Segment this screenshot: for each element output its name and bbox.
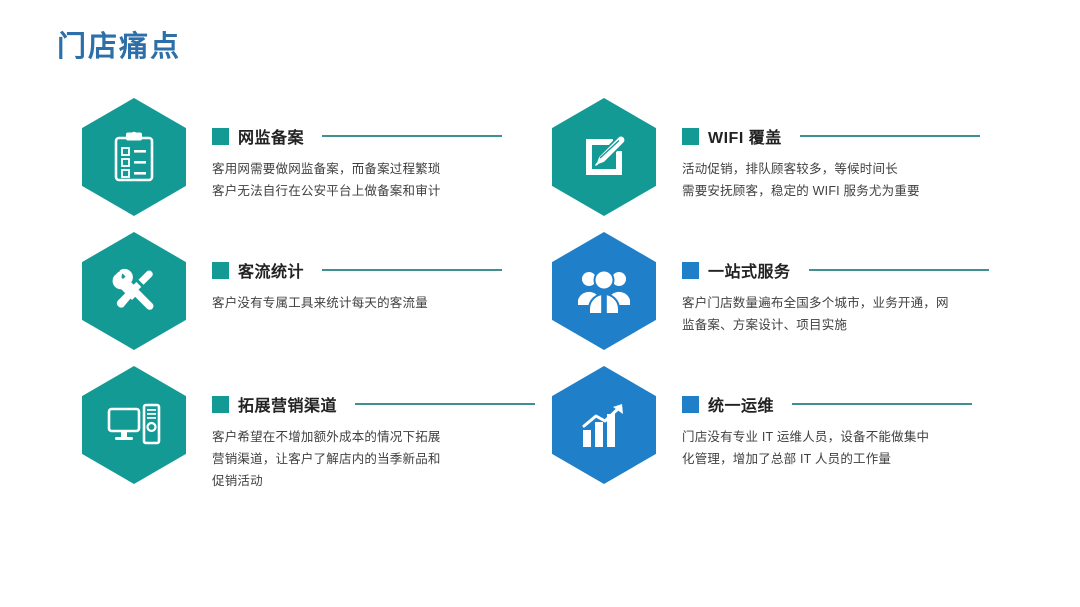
hexagon-shape (82, 232, 186, 350)
card-title: 客流统计 (238, 258, 304, 282)
card-text-block: 网监备案 客用网需要做网监备案，而备案过程繁琐 客户无法自行在公安平台上做备案和… (186, 96, 552, 202)
card-description-line: 客户门店数量遍布全国多个城市，业务开通，网 (682, 292, 1012, 314)
pain-point-card-grid: 网监备案 客用网需要做网监备案，而备案过程繁琐 客户无法自行在公安平台上做备案和… (0, 96, 1080, 498)
card-description-line: 活动促销，排队顾客较多，等候时间长 (682, 158, 1012, 180)
card-header: WIFI 覆盖 (682, 126, 1022, 146)
card-title-rule (322, 135, 502, 137)
card-color-swatch (212, 128, 229, 145)
card-color-swatch (682, 128, 699, 145)
slide-root: 门店痛点 (0, 0, 1080, 607)
hexagon-badge (82, 232, 186, 350)
card-title-rule (355, 403, 535, 405)
hexagon-shape (82, 98, 186, 216)
card-description-line: 营销渠道，让客户了解店内的当季新品和 (212, 448, 542, 470)
card-description: 门店没有专业 IT 运维人员，设备不能做集中 化管理，增加了总部 IT 人员的工… (682, 426, 1012, 470)
card-description-line: 客户无法自行在公安平台上做备案和审计 (212, 180, 542, 202)
pain-point-card[interactable]: 统一运维 门店没有专业 IT 运维人员，设备不能做集中 化管理，增加了总部 IT… (552, 364, 1022, 498)
card-header: 一站式服务 (682, 260, 1022, 280)
card-color-swatch (682, 262, 699, 279)
hexagon-badge (552, 232, 656, 350)
card-title: 一站式服务 (708, 258, 791, 282)
card-text-block: 统一运维 门店没有专业 IT 运维人员，设备不能做集中 化管理，增加了总部 IT… (656, 364, 1022, 470)
wrench-screwdriver-icon (108, 265, 160, 317)
card-text-block: WIFI 覆盖 活动促销，排队顾客较多，等候时间长 需要安抚顾客，稳定的 WIF… (656, 96, 1022, 202)
card-description-line: 客户没有专属工具来统计每天的客流量 (212, 292, 542, 314)
card-color-swatch (682, 396, 699, 413)
card-title: 拓展营销渠道 (238, 392, 337, 416)
desktop-computer-icon (106, 401, 162, 449)
card-title: WIFI 覆盖 (708, 124, 782, 148)
card-text-block: 拓展营销渠道 客户希望在不增加额外成本的情况下拓展 营销渠道，让客户了解店内的当… (186, 364, 552, 492)
pain-point-card[interactable]: WIFI 覆盖 活动促销，排队顾客较多，等候时间长 需要安抚顾客，稳定的 WIF… (552, 96, 1022, 230)
pain-point-card[interactable]: 客流统计 客户没有专属工具来统计每天的客流量 (82, 230, 552, 364)
clipboard-checklist-icon (109, 130, 159, 184)
hexagon-badge (82, 366, 186, 484)
hexagon-shape (82, 366, 186, 484)
card-title-rule (809, 269, 989, 271)
card-description-line: 化管理，增加了总部 IT 人员的工作量 (682, 448, 1012, 470)
card-description: 客户门店数量遍布全国多个城市，业务开通，网 监备案、方案设计、项目实施 (682, 292, 1012, 336)
card-text-block: 一站式服务 客户门店数量遍布全国多个城市，业务开通，网 监备案、方案设计、项目实… (656, 230, 1022, 336)
card-description: 客用网需要做网监备案，而备案过程繁琐 客户无法自行在公安平台上做备案和审计 (212, 158, 542, 202)
card-title-rule (800, 135, 980, 137)
bar-chart-growth-icon (579, 400, 629, 450)
hexagon-badge (82, 98, 186, 216)
card-color-swatch (212, 396, 229, 413)
card-title-rule (792, 403, 972, 405)
card-title: 网监备案 (238, 124, 304, 148)
hexagon-badge (552, 366, 656, 484)
card-description-line: 客用网需要做网监备案，而备案过程繁琐 (212, 158, 542, 180)
card-header: 网监备案 (212, 126, 552, 146)
card-header: 统一运维 (682, 394, 1022, 414)
card-description-line: 监备案、方案设计、项目实施 (682, 314, 1012, 336)
card-description: 客户希望在不增加额外成本的情况下拓展 营销渠道，让客户了解店内的当季新品和 促销… (212, 426, 542, 492)
card-description-line: 促销活动 (212, 470, 542, 492)
pencil-edit-square-icon (578, 131, 630, 183)
hexagon-badge (552, 98, 656, 216)
card-description: 客户没有专属工具来统计每天的客流量 (212, 292, 542, 314)
card-description-line: 门店没有专业 IT 运维人员，设备不能做集中 (682, 426, 1012, 448)
card-text-block: 客流统计 客户没有专属工具来统计每天的客流量 (186, 230, 552, 314)
card-description-line: 客户希望在不增加额外成本的情况下拓展 (212, 426, 542, 448)
people-group-icon (577, 267, 631, 315)
card-header: 拓展营销渠道 (212, 394, 552, 414)
pain-point-card[interactable]: 网监备案 客用网需要做网监备案，而备案过程繁琐 客户无法自行在公安平台上做备案和… (82, 96, 552, 230)
page-title: 门店痛点 (57, 30, 181, 65)
card-title-rule (322, 269, 502, 271)
card-description: 活动促销，排队顾客较多，等候时间长 需要安抚顾客，稳定的 WIFI 服务尤为重要 (682, 158, 1012, 202)
pain-point-card[interactable]: 拓展营销渠道 客户希望在不增加额外成本的情况下拓展 营销渠道，让客户了解店内的当… (82, 364, 552, 498)
card-header: 客流统计 (212, 260, 552, 280)
card-description-line: 需要安抚顾客，稳定的 WIFI 服务尤为重要 (682, 180, 1012, 202)
card-color-swatch (212, 262, 229, 279)
hexagon-shape (552, 366, 656, 484)
hexagon-shape (552, 232, 656, 350)
pain-point-card[interactable]: 一站式服务 客户门店数量遍布全国多个城市，业务开通，网 监备案、方案设计、项目实… (552, 230, 1022, 364)
card-title: 统一运维 (708, 392, 774, 416)
hexagon-shape (552, 98, 656, 216)
